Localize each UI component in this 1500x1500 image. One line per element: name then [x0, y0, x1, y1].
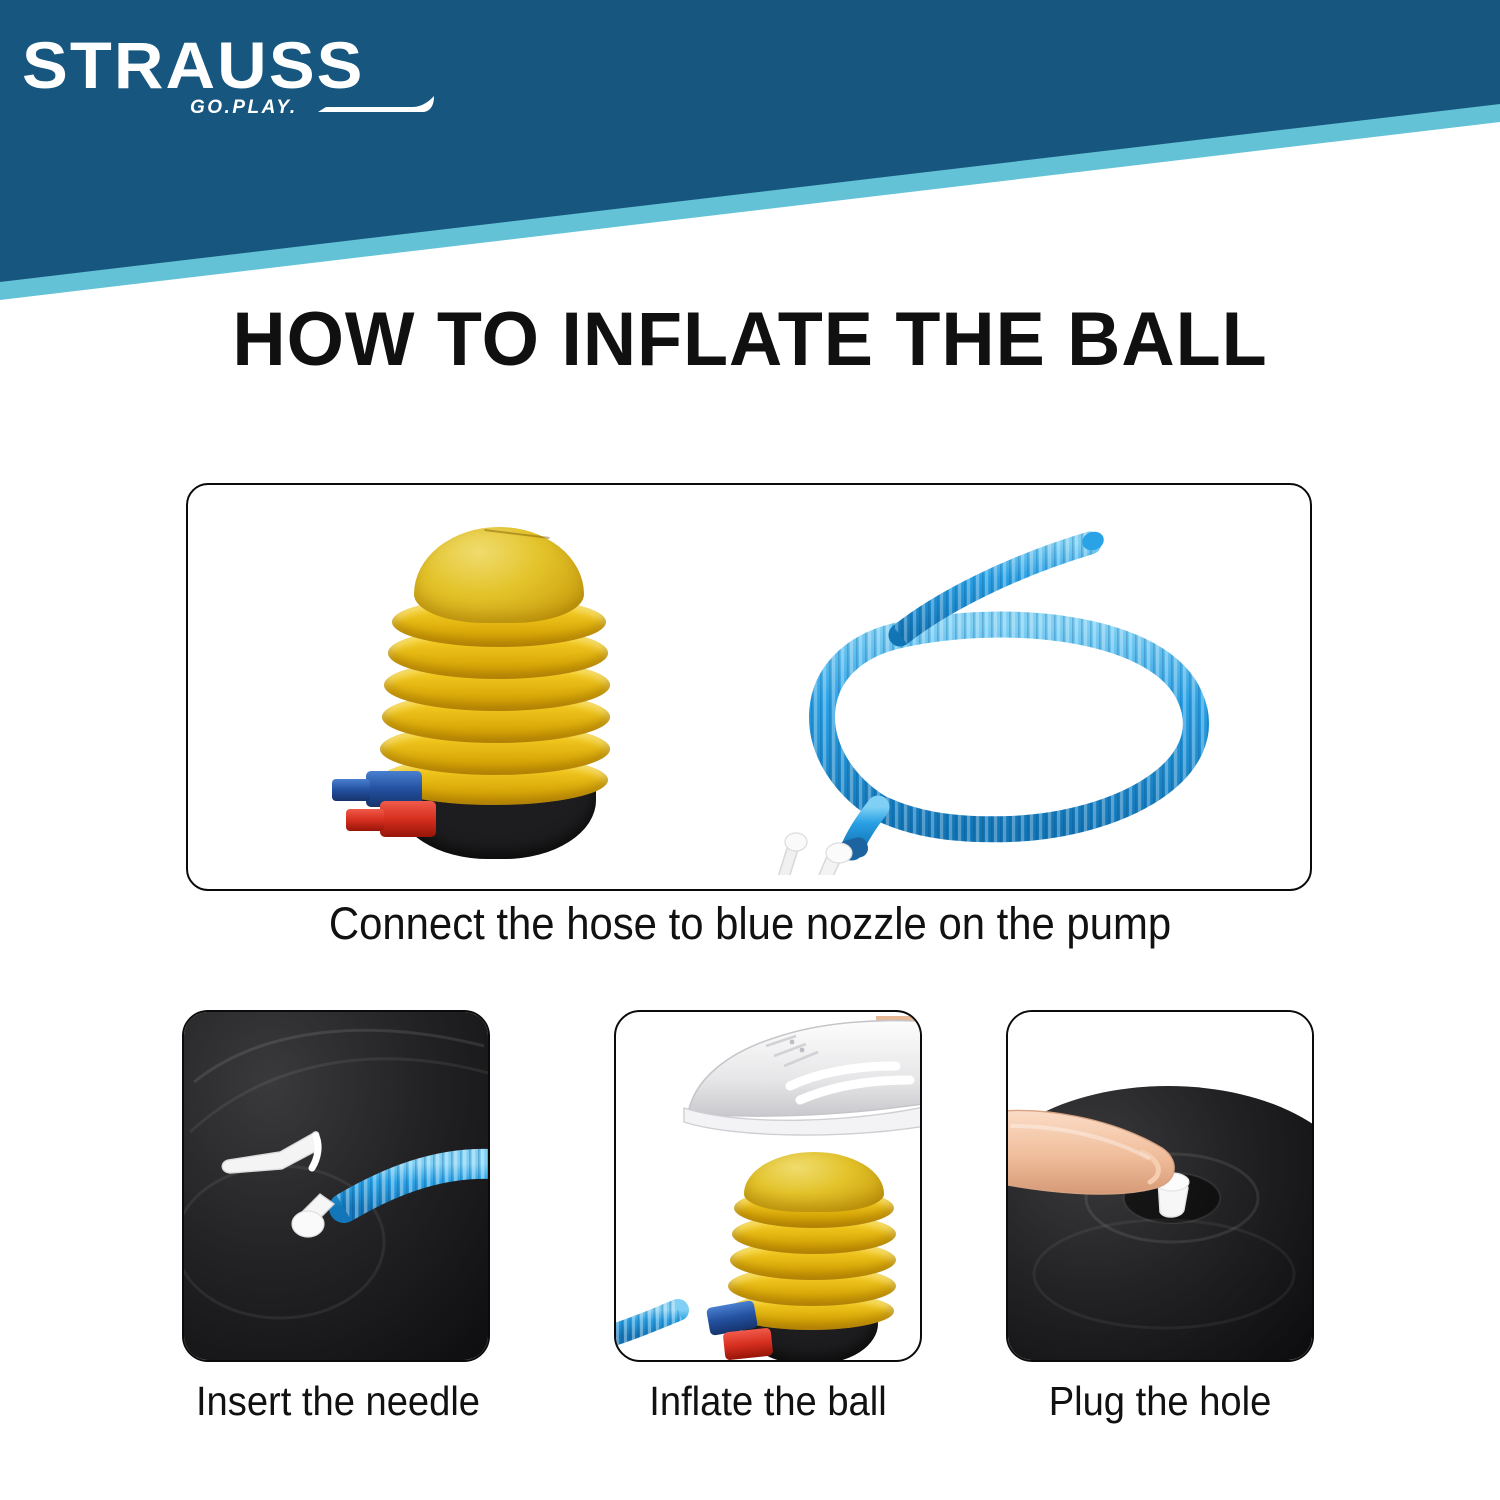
foot-pump-illustration	[288, 503, 628, 875]
hose-segment-texture	[616, 1310, 678, 1336]
needle-primary-head	[826, 843, 852, 863]
swoosh-icon	[316, 86, 436, 116]
ball-seam	[190, 1059, 490, 1132]
main-panel-stage	[188, 485, 1310, 889]
lace-eyelet	[790, 1040, 795, 1045]
ball-seam	[1034, 1220, 1294, 1328]
step-panel-insert-needle	[182, 1010, 490, 1362]
step-1-stage	[184, 1012, 488, 1360]
brand-logo: STRAUSS GO.PLAY.	[22, 34, 442, 126]
step-panel-inflate-ball	[614, 1010, 922, 1362]
step-3-caption: Plug the hole	[993, 1378, 1328, 1425]
step-1-artwork	[184, 1012, 490, 1362]
inflation-hose-illustration	[760, 507, 1280, 875]
page-title: HOW TO INFLATE THE BALL	[23, 296, 1478, 383]
step-2-caption: Inflate the ball	[601, 1378, 936, 1425]
step-2-stage	[616, 1012, 920, 1360]
needle-inserted-head	[292, 1211, 324, 1237]
step-3-stage	[1008, 1012, 1312, 1360]
brand-tagline: GO.PLAY.	[190, 98, 298, 117]
pump-blue-nozzle-tip	[332, 779, 370, 801]
step-panel-plug-hole	[1006, 1010, 1314, 1362]
main-product-panel	[186, 483, 1312, 891]
infographic-page: STRAUSS GO.PLAY. HOW TO INFLATE THE BALL	[0, 0, 1500, 1500]
needle-secondary-head	[785, 833, 807, 851]
step-1-caption: Insert the needle	[171, 1378, 506, 1425]
hose-segment-texture	[344, 1164, 490, 1208]
pump-dome-cap	[414, 527, 584, 623]
needle-adapter-group	[778, 833, 852, 875]
main-panel-caption: Connect the hose to blue nozzle on the p…	[53, 898, 1448, 950]
finger-illustration	[1006, 1096, 1212, 1220]
ball-seam	[194, 1030, 484, 1082]
pump-dome-cap	[744, 1152, 884, 1212]
hose-connection	[616, 1288, 736, 1362]
lace-eyelet	[800, 1048, 805, 1053]
pump-red-nozzle-tip	[346, 809, 384, 831]
pump-red-nozzle-collar	[380, 801, 436, 837]
brand-wordmark: STRAUSS	[22, 32, 365, 98]
brand-banner: STRAUSS GO.PLAY.	[0, 0, 1500, 300]
